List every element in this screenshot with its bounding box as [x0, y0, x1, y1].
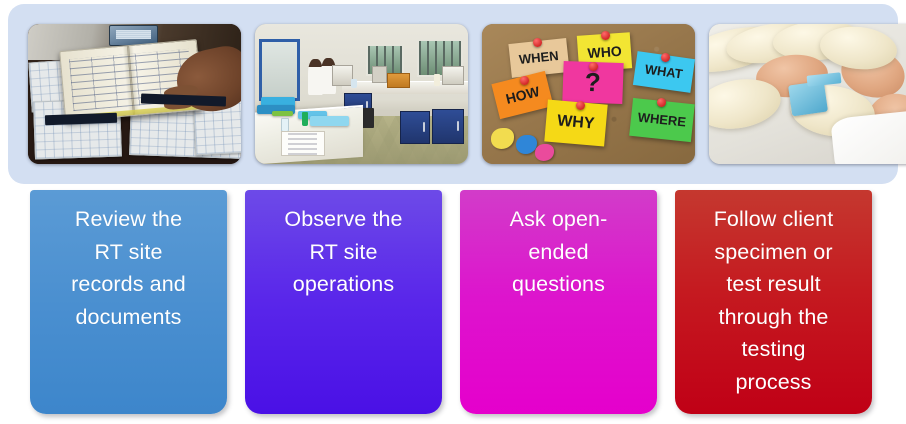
review-records-card-label: Review the RT site records and documents [42, 203, 215, 333]
push-pin-icon [576, 101, 585, 110]
specimen-tray [310, 116, 348, 126]
supply-box [387, 73, 410, 88]
sticky-note-label: WHEN [518, 48, 559, 67]
observe-operations-card[interactable]: Observe the RT site operations [245, 190, 442, 414]
bench-sign [281, 131, 326, 155]
sticky-note-label: ? [584, 66, 601, 98]
sticky-note-label: WHO [587, 43, 622, 61]
observe-operations-card-label: Observe the RT site operations [257, 203, 430, 301]
site-records-photo [28, 24, 241, 164]
sticky-note-label: WHY [556, 113, 595, 134]
ask-questions-card[interactable]: Ask open- ended questions [460, 190, 657, 414]
specimen-tray [272, 111, 293, 117]
follow-specimen-card[interactable]: Follow client specimen or test result th… [675, 190, 872, 414]
redaction-bar [45, 112, 118, 124]
sticky-note-label: HOW [504, 83, 541, 107]
lab-equipment [372, 66, 387, 83]
doorway [259, 39, 299, 101]
reagent-bottle [351, 79, 357, 89]
photo-band: WHEN WHO ? WHAT [8, 4, 898, 184]
specimen-collection-photo [709, 24, 906, 164]
storage-cabinet [400, 111, 430, 144]
review-records-card[interactable]: Review the RT site records and documents [30, 190, 227, 414]
photo-row: WHEN WHO ? WHAT [28, 24, 882, 164]
reagent-bottle [434, 74, 440, 85]
open-ended-questions-photo: WHEN WHO ? WHAT [482, 24, 695, 164]
reagent-bottle [281, 118, 289, 133]
reagent-bottle [302, 112, 308, 126]
push-pin-icon [657, 98, 666, 107]
sticky-note-label: WHAT [644, 62, 684, 82]
lab-equipment [332, 65, 353, 87]
laboratory-operations-photo [255, 24, 468, 164]
slide-canvas: WHEN WHO ? WHAT [0, 0, 906, 424]
follow-specimen-card-label: Follow client specimen or test result th… [687, 203, 860, 398]
push-pin-icon [589, 62, 598, 71]
sticky-note-label: WHERE [637, 110, 687, 130]
crumpled-paper [491, 128, 514, 149]
storage-cabinet [432, 109, 464, 143]
ask-questions-card-label: Ask open- ended questions [472, 203, 645, 301]
caption-card-row: Review the RT site records and documents… [30, 190, 878, 414]
lab-equipment [442, 66, 463, 85]
